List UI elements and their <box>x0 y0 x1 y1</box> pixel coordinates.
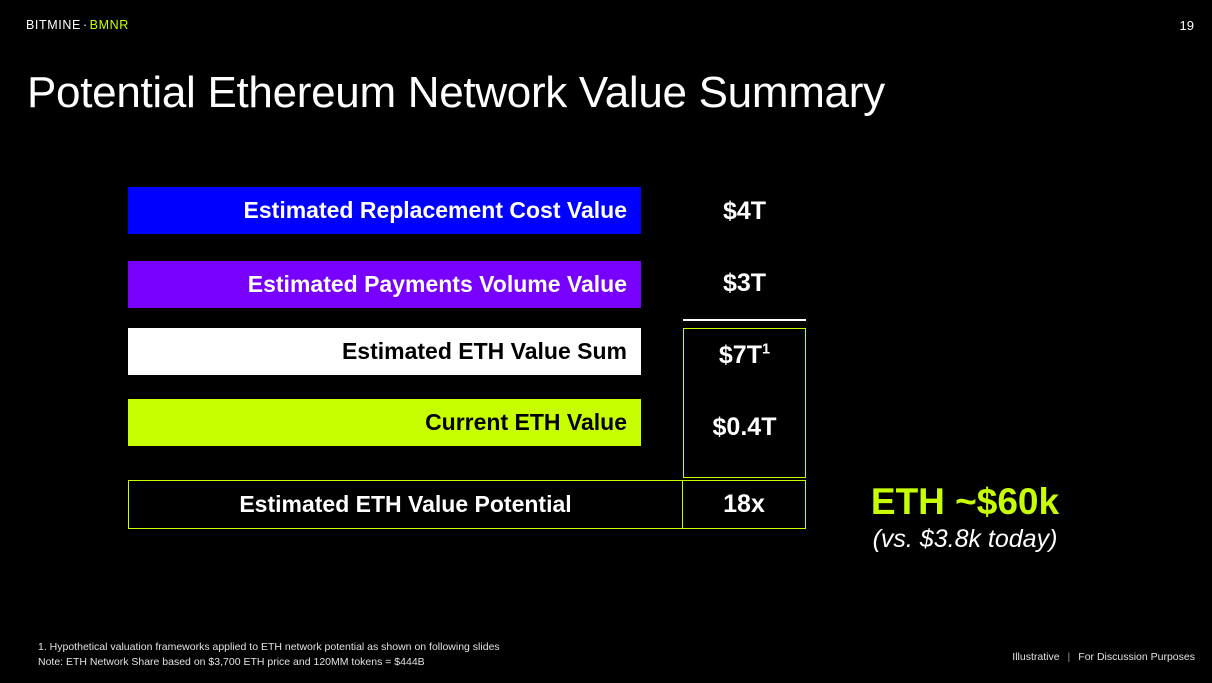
value-eth-value-sum-text: $7T <box>719 341 762 369</box>
value-eth-value-potential: 18x <box>683 481 805 528</box>
bar-eth-value-sum: Estimated ETH Value Sum <box>128 328 641 375</box>
bar-label-payments-volume: Estimated Payments Volume Value <box>248 271 627 298</box>
bar-label-eth-value-sum: Estimated ETH Value Sum <box>342 338 627 365</box>
footer-illustrative-label: Illustrative <box>1012 651 1059 663</box>
bar-payments-volume: Estimated Payments Volume Value <box>128 261 641 308</box>
sum-divider-line <box>683 319 806 321</box>
footer-discussion-label: For Discussion Purposes <box>1078 651 1195 663</box>
bar-replacement-cost: Estimated Replacement Cost Value <box>128 187 641 234</box>
bar-label-current-eth-value: Current ETH Value <box>425 409 627 436</box>
footer-disclaimer: Illustrative|For Discussion Purposes <box>1012 651 1195 663</box>
row-eth-value-potential: Estimated ETH Value Potential 18x <box>128 480 806 529</box>
bar-current-eth-value: Current ETH Value <box>128 399 641 446</box>
value-eth-value-sum: $7T1 <box>684 341 805 370</box>
value-summary-diagram: Estimated Replacement Cost Value Estimat… <box>0 0 1212 683</box>
sum-value-box: $7T1 $0.4T <box>683 328 806 478</box>
footnote-line-1: 1. Hypothetical valuation frameworks app… <box>38 640 500 656</box>
slide: BITMINE·BMNR 19 Potential Ethereum Netwo… <box>0 0 1212 683</box>
callout-headline: ETH ~$60k <box>830 481 1100 523</box>
callout-subtext: (vs. $3.8k today) <box>830 525 1100 554</box>
value-replacement-cost: $4T <box>683 197 806 226</box>
value-current-eth-value: $0.4T <box>684 413 805 442</box>
footer-separator: | <box>1068 651 1071 663</box>
bar-label-eth-value-potential: Estimated ETH Value Potential <box>129 481 683 528</box>
footnotes: 1. Hypothetical valuation frameworks app… <box>38 640 500 672</box>
value-payments-volume: $3T <box>683 269 806 298</box>
footnote-line-2: Note: ETH Network Share based on $3,700 … <box>38 655 500 671</box>
bar-label-replacement-cost: Estimated Replacement Cost Value <box>244 197 627 224</box>
footnote-marker: 1 <box>762 342 770 358</box>
